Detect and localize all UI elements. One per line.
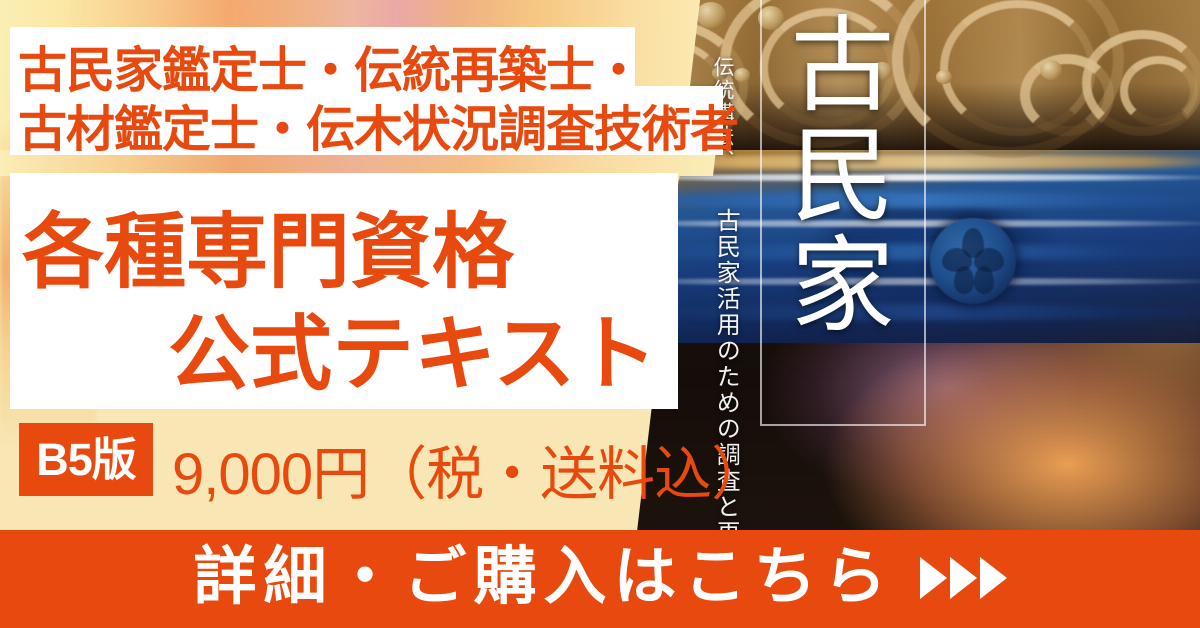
headline-line-2: 古材鑑定士・伝木状況調査技術者: [18, 90, 738, 161]
triangle-right-icon: [920, 557, 947, 599]
cta-inner: 詳細・ご購入はこちら: [0, 530, 1200, 628]
price-text: 9,000円（税・送料込）: [172, 427, 768, 511]
cta-arrows: [920, 557, 1007, 599]
promo-banner: 古民家 伝統構法、 古民家活用のための調査と再生の 古民家鑑定士・伝統再築士・ …: [0, 0, 1200, 628]
cover-title-text: 古民家: [778, 10, 898, 420]
title-line-2: 公式テキスト: [168, 287, 658, 406]
size-badge: B5版: [19, 423, 153, 496]
cta-button[interactable]: 詳細・ご購入はこちら: [0, 530, 1200, 628]
triangle-right-icon: [950, 557, 977, 599]
triangle-right-icon: [980, 557, 1007, 599]
cta-label: 詳細・ご購入はこちら: [194, 546, 894, 609]
